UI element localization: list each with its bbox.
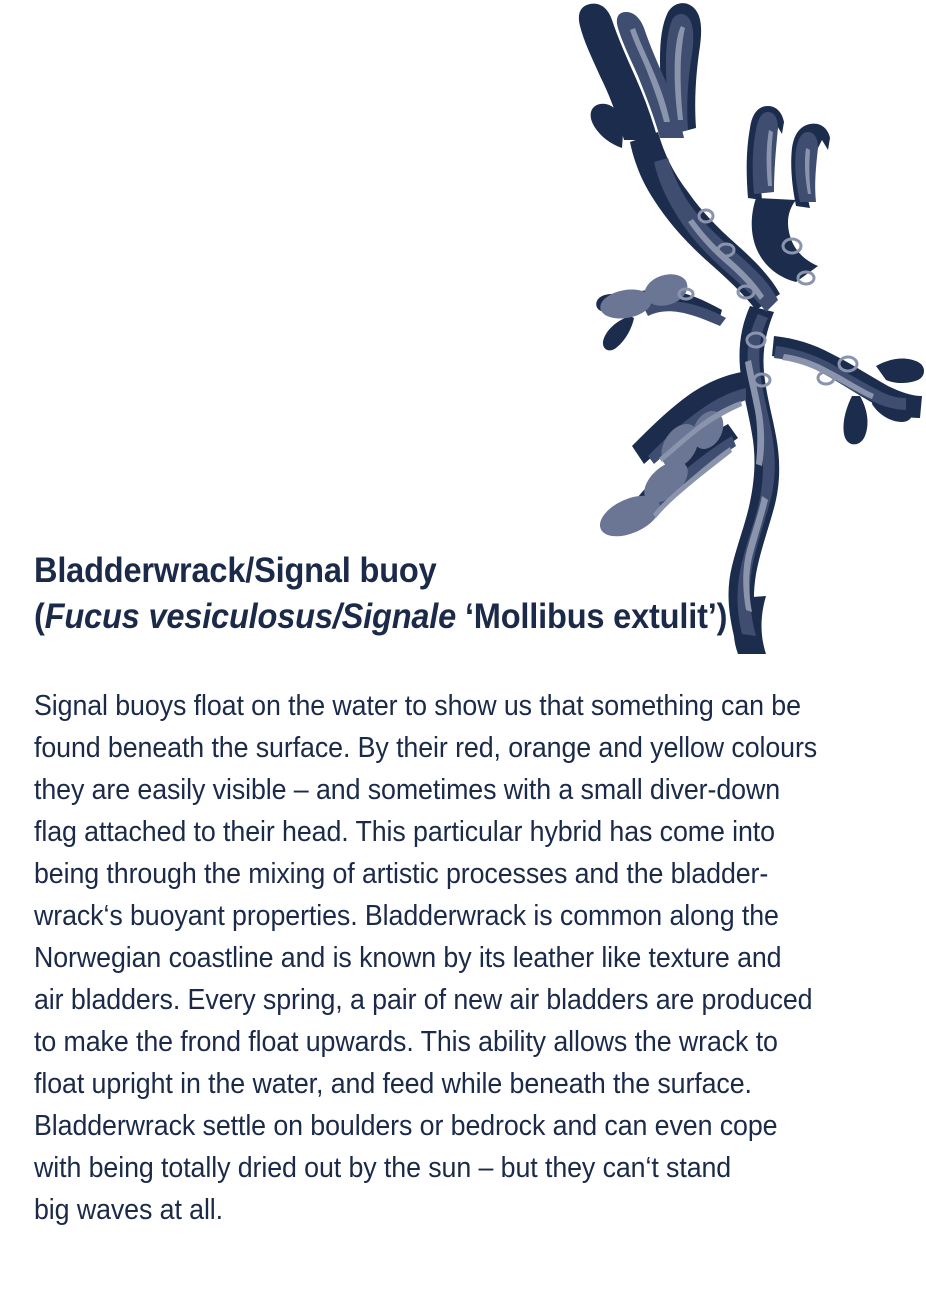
body-line: float upright in the water, and feed whi…: [34, 1063, 842, 1105]
page-title: Bladderwrack/Signal buoy (Fucus vesiculo…: [34, 548, 834, 640]
body-line: Bladderwrack settle on boulders or bedro…: [34, 1105, 842, 1147]
body-line: flag attached to their head. This partic…: [34, 811, 842, 853]
title-line-scientific-name: (Fucus vesiculosus/Signale ‘Mollibus ext…: [34, 594, 834, 640]
body-line: being through the mixing of artistic pro…: [34, 853, 842, 895]
body-line: wrack‘s buoyant properties. Bladderwrack…: [34, 895, 842, 937]
body-line: found beneath the surface. By their red,…: [34, 727, 842, 769]
body-line: they are easily visible – and sometimes …: [34, 769, 842, 811]
title-binomial: Fucus vesiculosus/Signale: [45, 597, 456, 636]
title-cultivar: ‘Mollibus extulit’): [456, 597, 727, 636]
body-line: air bladders. Every spring, a pair of ne…: [34, 979, 842, 1021]
body-line: big waves at all.: [34, 1189, 842, 1231]
page-root: Bladderwrack/Signal buoy (Fucus vesiculo…: [0, 0, 926, 1292]
title-open-paren: (: [34, 597, 45, 636]
text-content: Bladderwrack/Signal buoy (Fucus vesiculo…: [34, 548, 894, 1231]
description-paragraph: Signal buoys float on the water to show …: [34, 640, 842, 1231]
body-line: Norwegian coastline and is known by its …: [34, 937, 842, 979]
body-line: Signal buoys float on the water to show …: [34, 685, 842, 727]
body-line: to make the frond float upwards. This ab…: [34, 1021, 842, 1063]
title-line-common-name: Bladderwrack/Signal buoy: [34, 548, 834, 594]
body-line: with being totally dried out by the sun …: [34, 1147, 842, 1189]
